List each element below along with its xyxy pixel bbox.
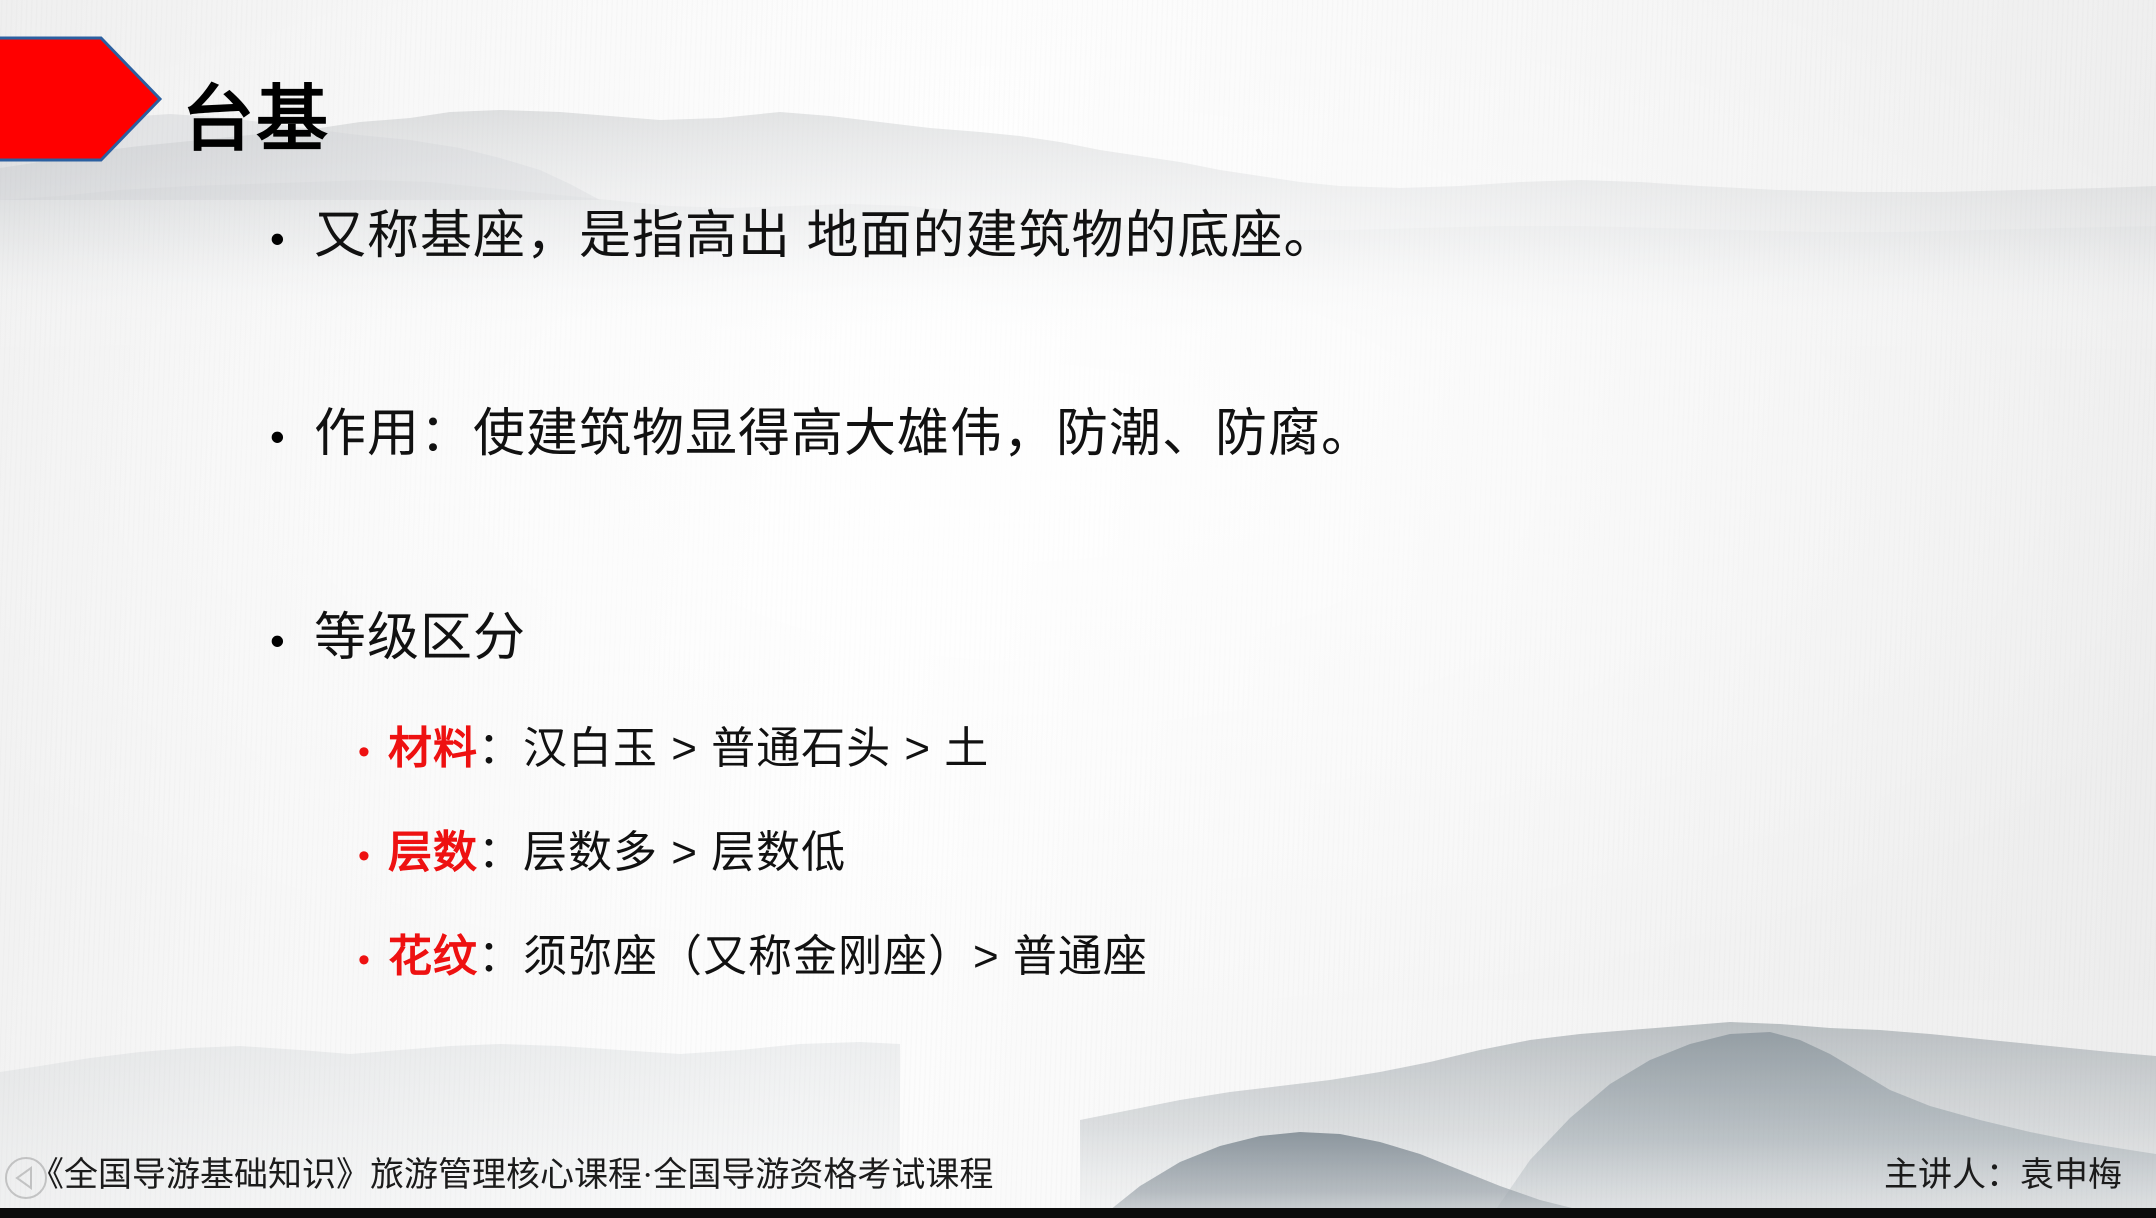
bullet-text: 等级区分 <box>314 608 526 669</box>
page-title: 台基 <box>182 75 330 165</box>
sub-bullet-key: 花纹 <box>388 920 478 984</box>
bullet-marker-icon: • <box>270 620 314 662</box>
sub-bullet-value: ：层数多 > 层数低 <box>478 816 846 880</box>
bullet-marker-icon: • <box>270 218 314 260</box>
bullet-text: 又称基座，是指高出 地面的建筑物的底座。 <box>314 206 1336 267</box>
sub-bullet-value: ：汉白玉 > 普通石头 > 土 <box>478 712 989 776</box>
bullet-text: 作用：使建筑物显得高大雄伟，防潮、防腐。 <box>314 404 1374 465</box>
red-arrow-pentagon <box>0 38 160 160</box>
sub-bullet-item: • 材料 ：汉白玉 > 普通石头 > 土 <box>358 712 989 776</box>
footer-course-title: 《全国导游基础知识》旅游管理核心课程·全国导游资格考试课程 <box>30 1147 993 1196</box>
sub-bullet-marker-icon: • <box>358 943 388 977</box>
sub-bullet-marker-icon: • <box>358 735 388 769</box>
sub-bullet-key: 层数 <box>388 816 478 880</box>
footer-presenter: 主讲人：袁申梅 <box>1884 1147 2122 1196</box>
footer-black-strip <box>0 1208 2156 1218</box>
sub-bullet-marker-icon: • <box>358 839 388 873</box>
slide-footer: 《全国导游基础知识》旅游管理核心课程·全国导游资格考试课程 主讲人：袁申梅 <box>0 1126 2156 1218</box>
title-banner-shape <box>0 36 170 162</box>
presentation-slide: 台基 • 又称基座，是指高出 地面的建筑物的底座。 • 作用：使建筑物显得高大雄… <box>0 0 2156 1218</box>
bullet-marker-icon: • <box>270 416 314 458</box>
sub-bullet-key: 材料 <box>388 712 478 776</box>
sub-bullet-value: ：须弥座（又称金刚座）> 普通座 <box>478 920 1148 984</box>
sub-bullet-item: • 花纹 ：须弥座（又称金刚座）> 普通座 <box>358 920 1148 984</box>
sub-bullet-item: • 层数 ：层数多 > 层数低 <box>358 816 846 880</box>
bullet-item: • 又称基座，是指高出 地面的建筑物的底座。 <box>270 206 1336 267</box>
bullet-item: • 作用：使建筑物显得高大雄伟，防潮、防腐。 <box>270 404 1374 465</box>
bullet-item: • 等级区分 <box>270 608 526 669</box>
